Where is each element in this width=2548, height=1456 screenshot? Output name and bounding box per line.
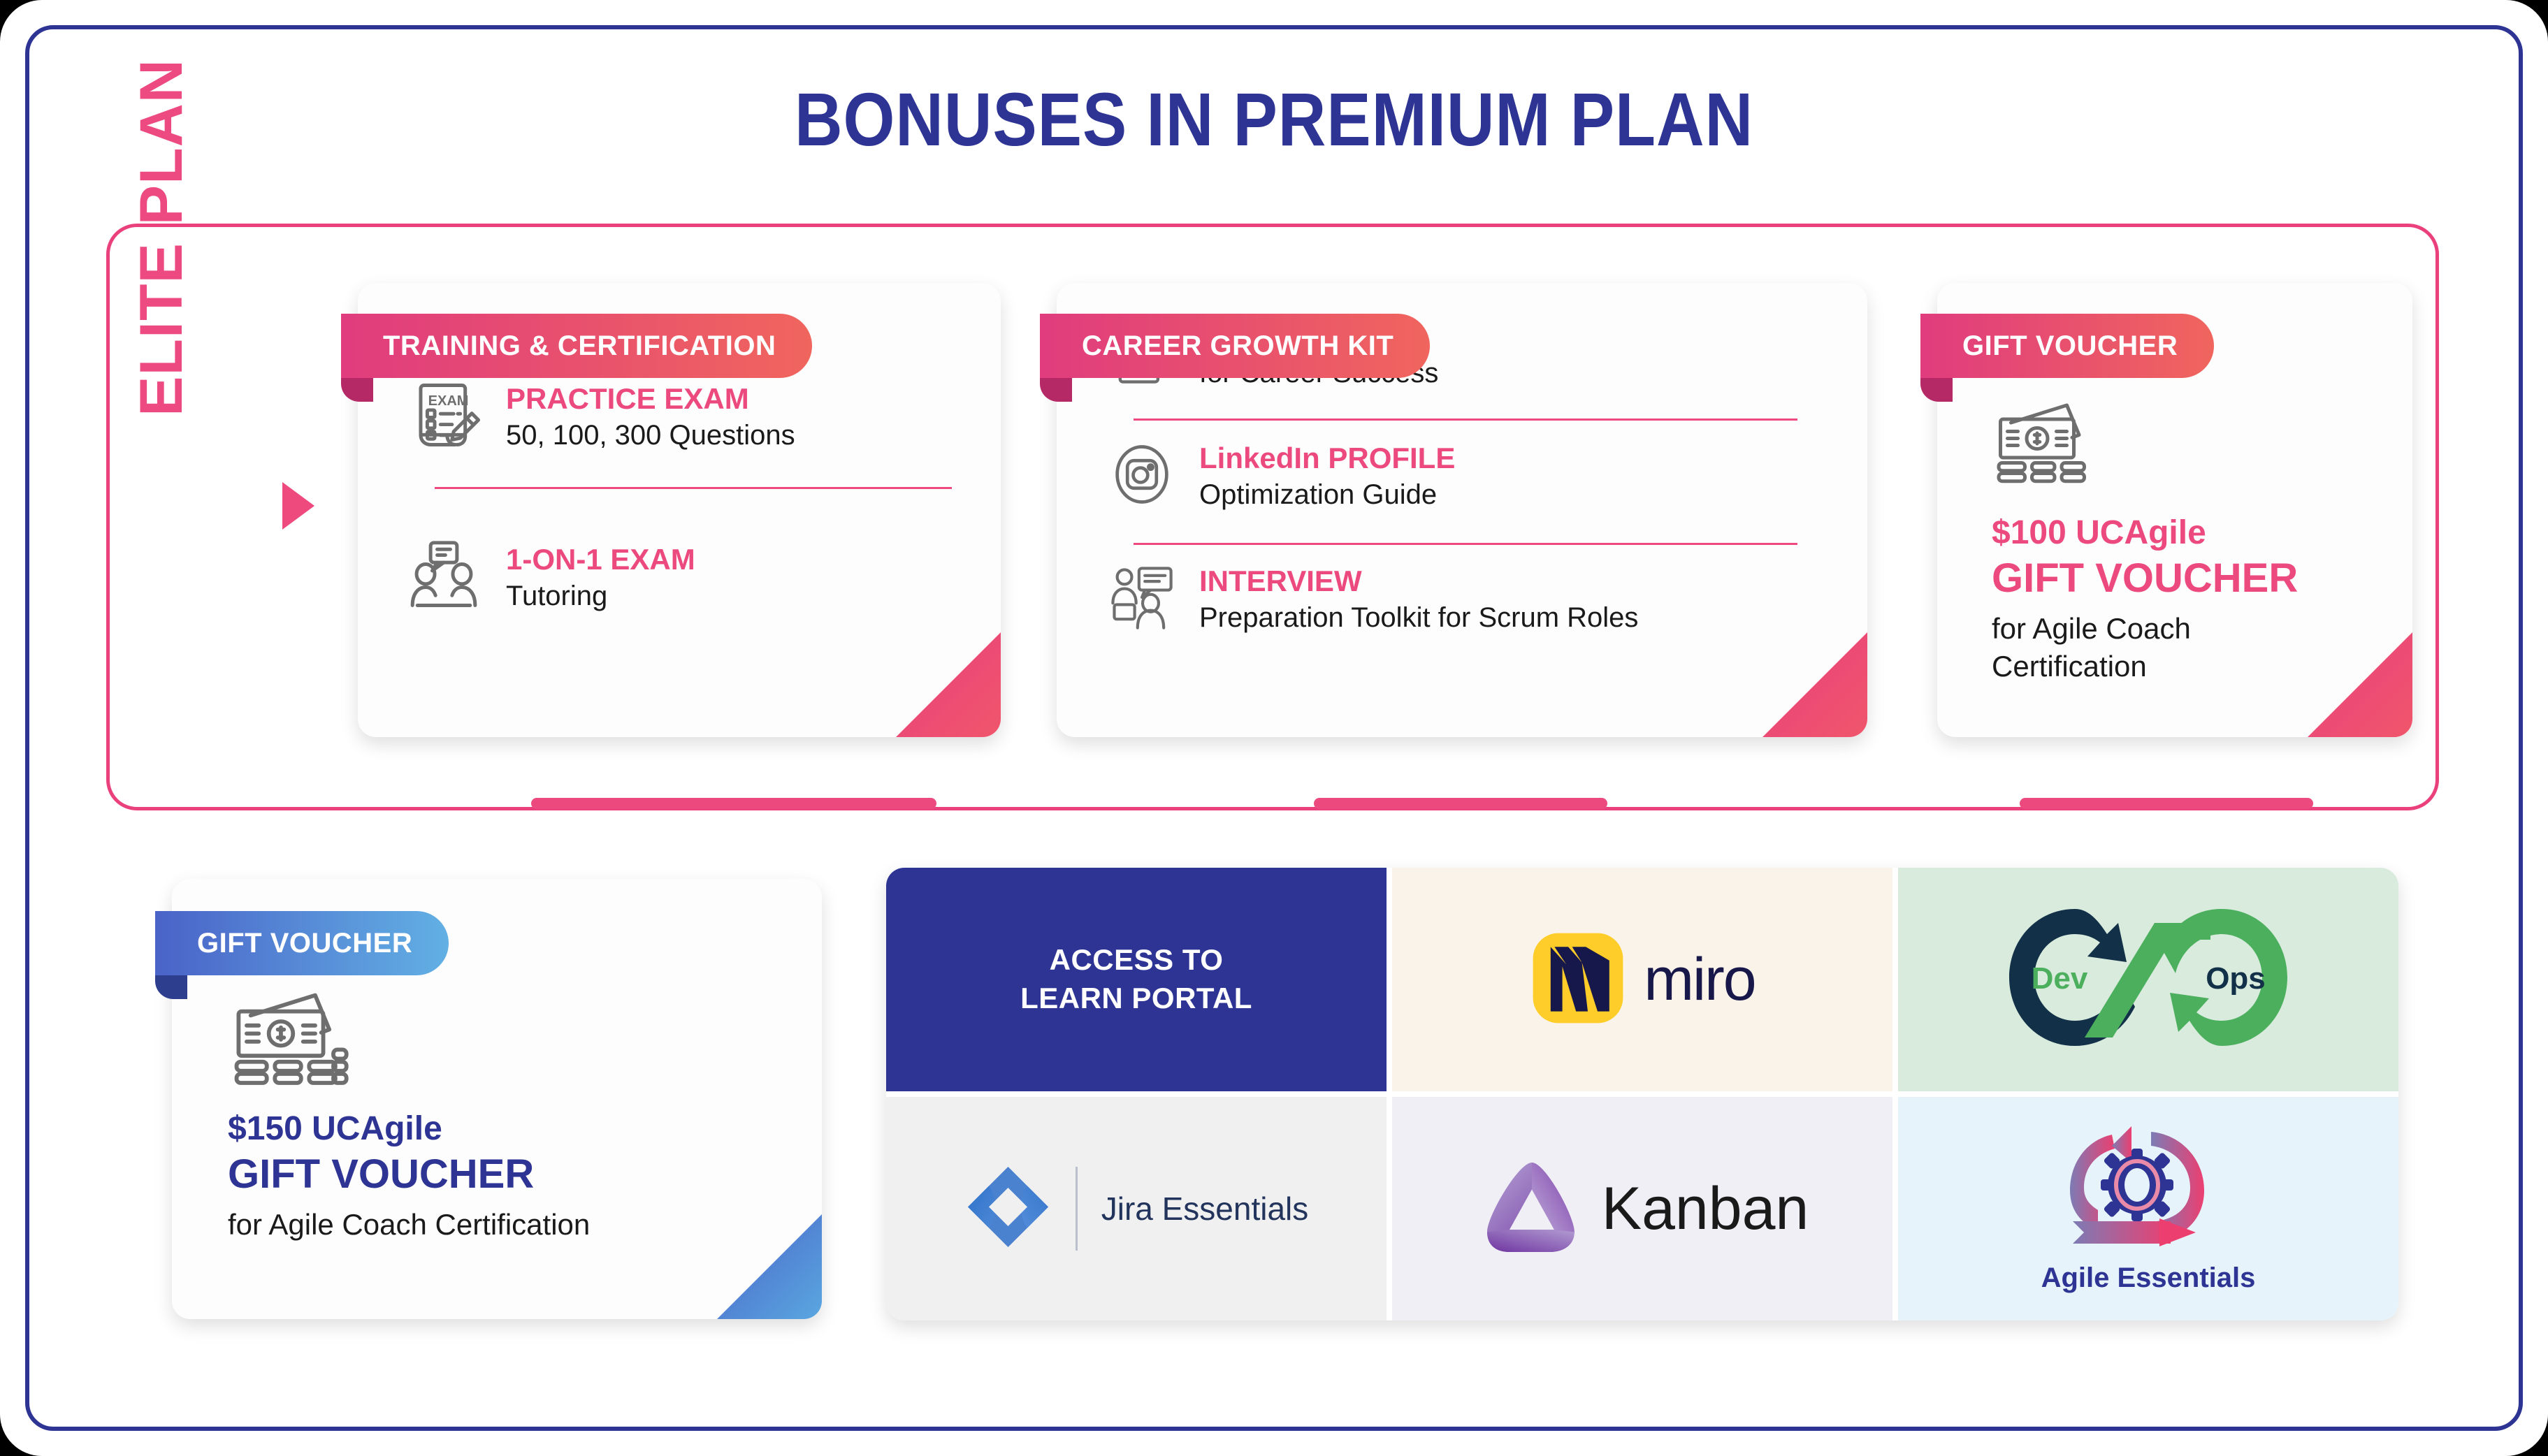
tile-access-learn-portal[interactable]: ACCESS TOLEARN PORTAL <box>886 868 1387 1091</box>
row-subtitle: Preparation Toolkit for Scrum Roles <box>1199 602 1638 634</box>
kanban-wordmark: Kanban <box>1602 1174 1809 1244</box>
logo-grid: ACCESS TOLEARN PORTAL miro Dev Ops <box>886 868 2398 1320</box>
exam-paper-icon: EXAM <box>403 374 485 460</box>
row-subtitle: Tutoring <box>506 581 695 612</box>
svg-text:Ops: Ops <box>2206 961 2266 996</box>
card-corner-fold <box>2308 632 2412 737</box>
portal-label: ACCESS TOLEARN PORTAL <box>1020 941 1252 1017</box>
agile-essentials-label: Agile Essentials <box>2041 1262 2256 1294</box>
tile-miro[interactable]: miro <box>1392 868 1892 1091</box>
ribbon-gift-voucher-150: GIFT VOUCHER <box>155 911 449 975</box>
jira-diamond-icon <box>964 1163 1052 1254</box>
card-corner-fold <box>1762 632 1867 737</box>
row-interview: INTERVIEW Preparation Toolkit for Scrum … <box>1106 561 1638 637</box>
row-divider <box>435 487 952 489</box>
play-triangle-icon <box>282 482 314 530</box>
row-linkedin-profile: LinkedIn PROFILE Optimization Guide <box>1106 438 1455 514</box>
profile-camera-icon <box>1106 438 1178 514</box>
voucher-title: GIFT VOUCHER <box>1992 555 2298 602</box>
row-divider <box>1134 418 1797 421</box>
miro-logo-icon <box>1529 929 1627 1031</box>
jira-wordmark: Jira Essentials <box>1101 1190 1309 1228</box>
accent-bar-2 <box>1314 798 1607 809</box>
page-title: BONUSES IN PREMIUM PLAN <box>153 75 2395 163</box>
tile-jira-essentials[interactable]: Jira Essentials <box>886 1097 1387 1320</box>
row-subtitle: 50, 100, 300 Questions <box>506 420 795 451</box>
row-1on1-exam: 1-ON-1 EXAM Tutoring <box>403 534 695 620</box>
tile-devops[interactable]: Dev Ops <box>1898 868 2398 1091</box>
row-practice-exam: EXAM PRACTICE EXAM 50, 100, 300 Question… <box>403 374 795 460</box>
row-subtitle: Optimization Guide <box>1199 479 1455 511</box>
row-title: INTERVIEW <box>1199 565 1638 598</box>
voucher-amount: $150 UCAgile <box>228 1109 590 1148</box>
voucher-description: for Agile Coach Certification <box>228 1206 590 1244</box>
voucher-description: for Agile CoachCertification <box>1992 610 2298 685</box>
svg-text:EXAM: EXAM <box>428 393 469 409</box>
tutoring-people-icon <box>403 534 485 620</box>
kanban-triangle-icon <box>1476 1151 1588 1267</box>
row-title: LinkedIn PROFILE <box>1199 442 1455 475</box>
svg-text:Dev: Dev <box>2032 961 2088 996</box>
miro-wordmark: miro <box>1644 945 1755 1014</box>
agile-loop-gear-icon <box>2050 1123 2246 1267</box>
money-cash-icon <box>1992 398 2097 493</box>
ribbon-career-growth-kit: CAREER GROWTH KIT <box>1040 314 1430 378</box>
jira-divider <box>1076 1167 1078 1251</box>
voucher-title: GIFT VOUCHER <box>228 1151 590 1197</box>
row-title: 1-ON-1 EXAM <box>506 543 695 576</box>
accent-bar-3 <box>2020 798 2313 809</box>
tile-agile-essentials[interactable]: Agile Essentials <box>1898 1097 2398 1320</box>
card-corner-fold <box>896 632 1001 737</box>
ribbon-training-certification: TRAINING & CERTIFICATION <box>341 314 812 378</box>
row-divider <box>1134 543 1797 545</box>
interview-person-icon <box>1106 561 1178 637</box>
voucher-text-block: $150 UCAgile GIFT VOUCHER for Agile Coac… <box>228 1109 590 1244</box>
voucher-text-block: $100 UCAgile GIFT VOUCHER for Agile Coac… <box>1992 514 2298 685</box>
ribbon-gift-voucher-100: GIFT VOUCHER <box>1920 314 2214 378</box>
tile-kanban[interactable]: Kanban <box>1392 1097 1892 1320</box>
card-corner-fold <box>717 1214 822 1319</box>
accent-bar-1 <box>531 798 936 809</box>
elite-plan-label: ELITE PLAN <box>127 0 196 482</box>
money-cash-icon <box>228 987 350 1095</box>
voucher-amount: $100 UCAgile <box>1992 514 2298 552</box>
infographic-canvas: BONUSES IN PREMIUM PLAN ELITE PLAN EXAM <box>0 0 2548 1456</box>
row-title: PRACTICE EXAM <box>506 382 795 416</box>
devops-infinity-icon: Dev Ops <box>1998 898 2299 1062</box>
